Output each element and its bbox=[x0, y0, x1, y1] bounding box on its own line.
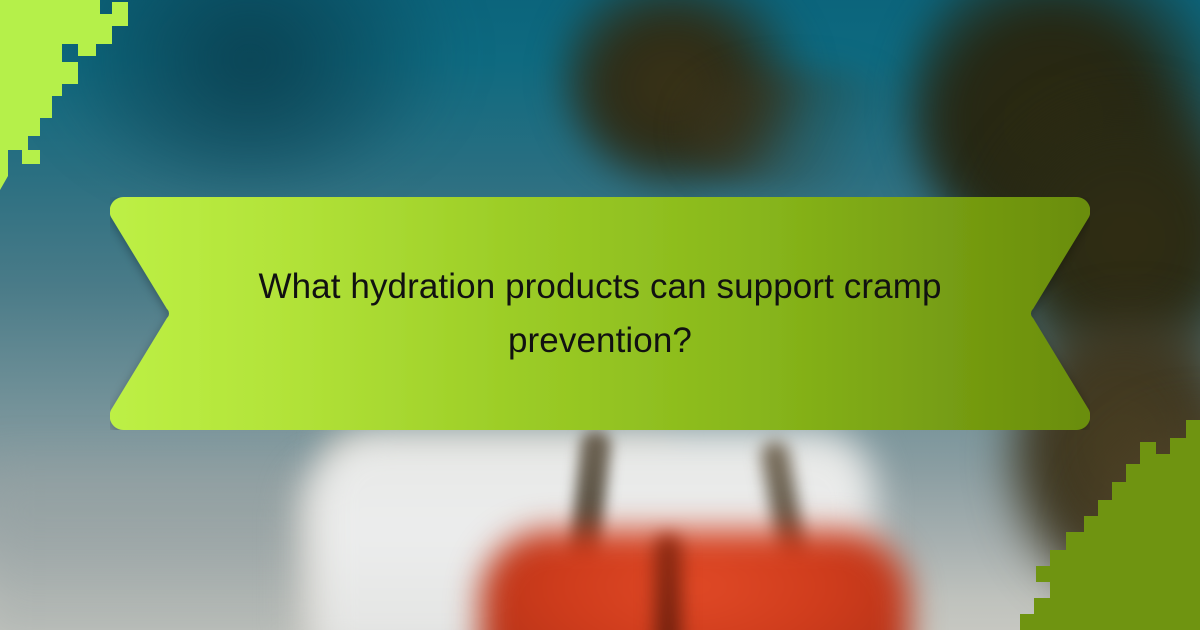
headline-text: What hydration products can support cram… bbox=[200, 197, 1000, 430]
backpack-center-seam bbox=[655, 535, 681, 630]
red-backpack bbox=[480, 530, 910, 630]
share-card: What hydration products can support cram… bbox=[0, 0, 1200, 630]
palm-stem-center bbox=[690, 70, 920, 190]
ground-haze-left bbox=[0, 470, 350, 630]
headline-banner: What hydration products can support cram… bbox=[110, 197, 1090, 430]
